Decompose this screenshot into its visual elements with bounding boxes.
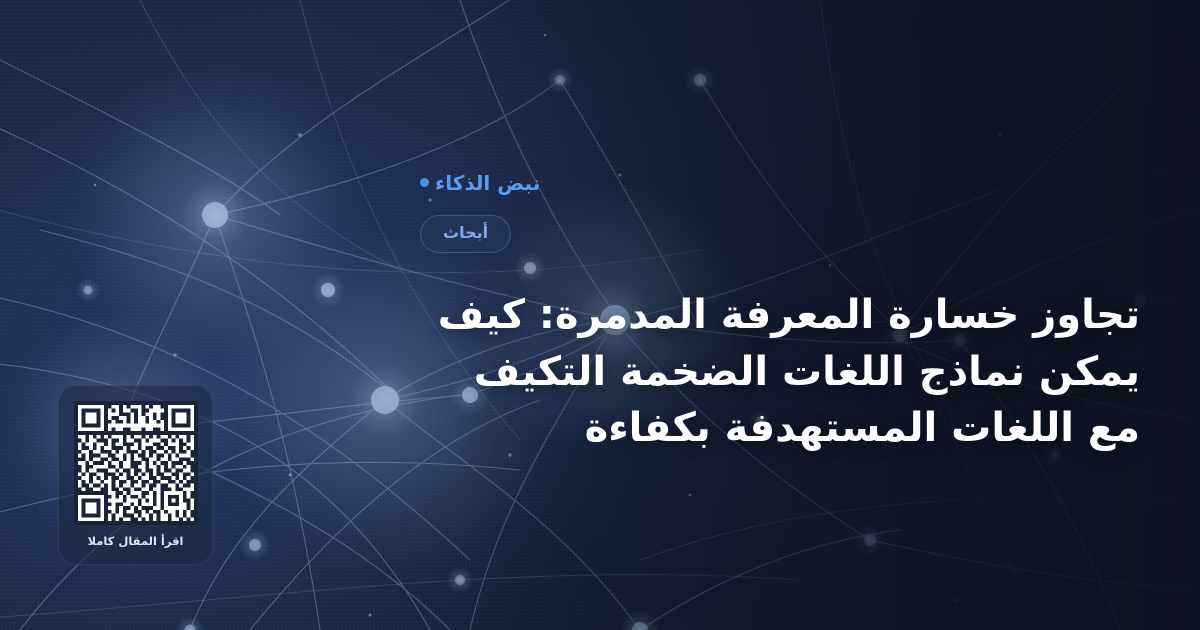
qr-card-caption: اقرأ المقال كاملا [88,536,184,548]
brand-logo[interactable]: نبض الذكاء [420,173,540,193]
category-badge[interactable]: أبحاث [420,215,511,253]
og-share-card: نبض الذكاء أبحاث تجاوز خسارة المعرفة الم… [0,0,1200,630]
qr-card[interactable]: اقرأ المقال كاملا [58,385,213,565]
page-title: تجاوز خسارة المعرفة المدمرة: كيف يمكن نم… [420,287,1140,457]
content-column: نبض الذكاء أبحاث تجاوز خسارة المعرفة الم… [420,0,1200,630]
brand-name: نبض الذكاء [435,173,540,193]
brand-dot-icon [420,178,429,187]
qr-code-icon [74,401,198,525]
